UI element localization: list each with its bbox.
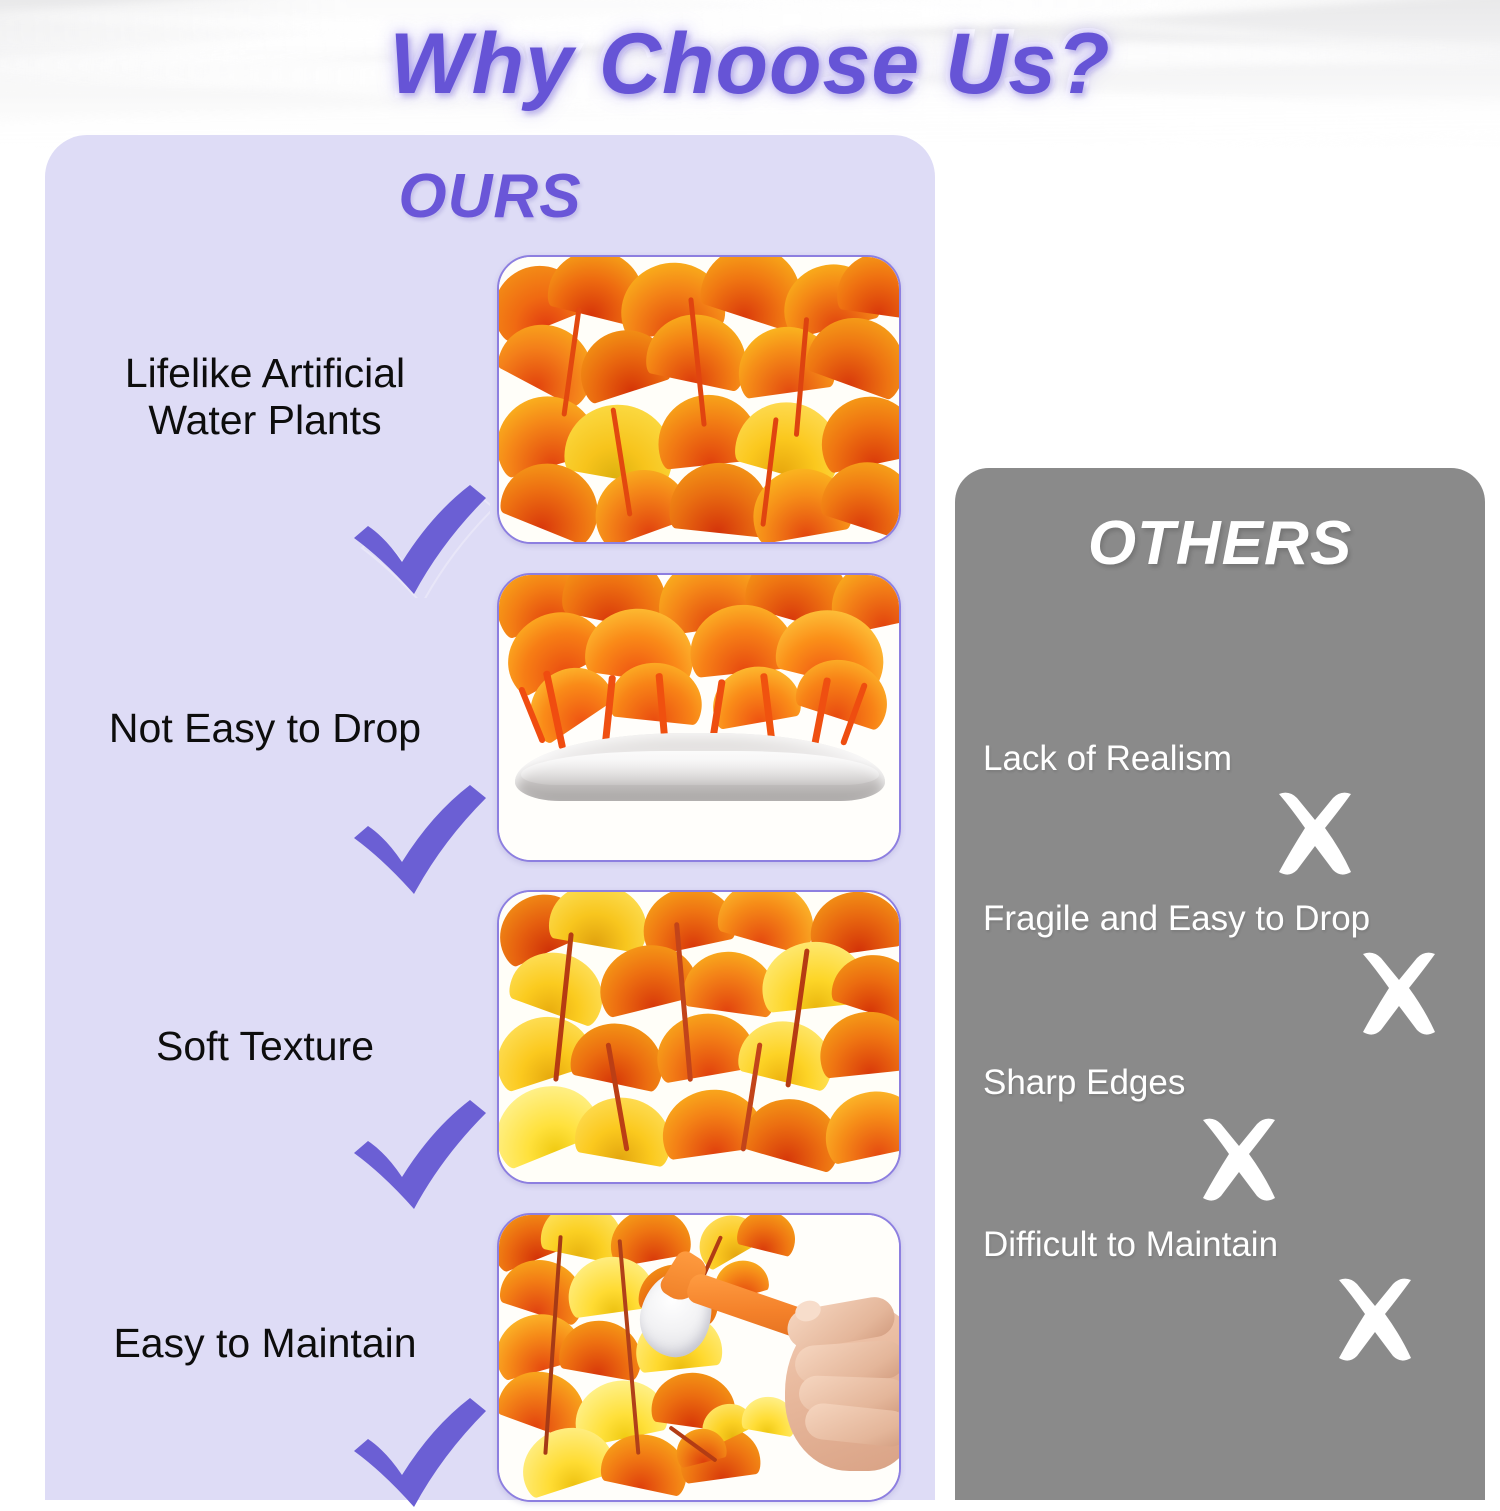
ours-photo-3 (497, 890, 901, 1184)
check-icon (340, 480, 490, 598)
ours-label-1: Lifelike Artificial Water Plants (55, 350, 475, 443)
ours-photo-4 (497, 1213, 901, 1502)
ours-heading: OURS (45, 161, 935, 232)
ours-panel: OURS Lifelike Artificial Water Plants (45, 135, 935, 1500)
others-label-3: Sharp Edges (983, 1064, 1185, 1103)
ours-label-2: Not Easy to Drop (55, 705, 475, 752)
cross-icon (1329, 1274, 1421, 1366)
ours-label-1-line1: Lifelike Artificial (125, 350, 405, 396)
others-heading: OTHERS (955, 508, 1485, 579)
ours-photo-1 (497, 255, 901, 544)
check-icon (340, 780, 490, 898)
others-label-1: Lack of Realism (983, 740, 1232, 779)
others-panel: OTHERS Lack of Realism Fragile and Easy … (955, 468, 1485, 1500)
ours-photo-2 (497, 573, 901, 862)
check-icon (340, 1393, 490, 1511)
title-banner: Why Choose Us? (0, 6, 1500, 122)
cross-icon (1353, 948, 1445, 1040)
others-label-4: Difficult to Maintain (983, 1226, 1278, 1265)
ours-label-1-line2: Water Plants (148, 397, 381, 443)
cross-icon (1193, 1114, 1285, 1206)
ours-label-4: Easy to Maintain (55, 1320, 475, 1367)
check-icon (340, 1095, 490, 1213)
page-title: Why Choose Us? (389, 21, 1110, 107)
cross-icon (1269, 788, 1361, 880)
ours-label-3: Soft Texture (55, 1023, 475, 1070)
others-label-2: Fragile and Easy to Drop (983, 900, 1370, 939)
